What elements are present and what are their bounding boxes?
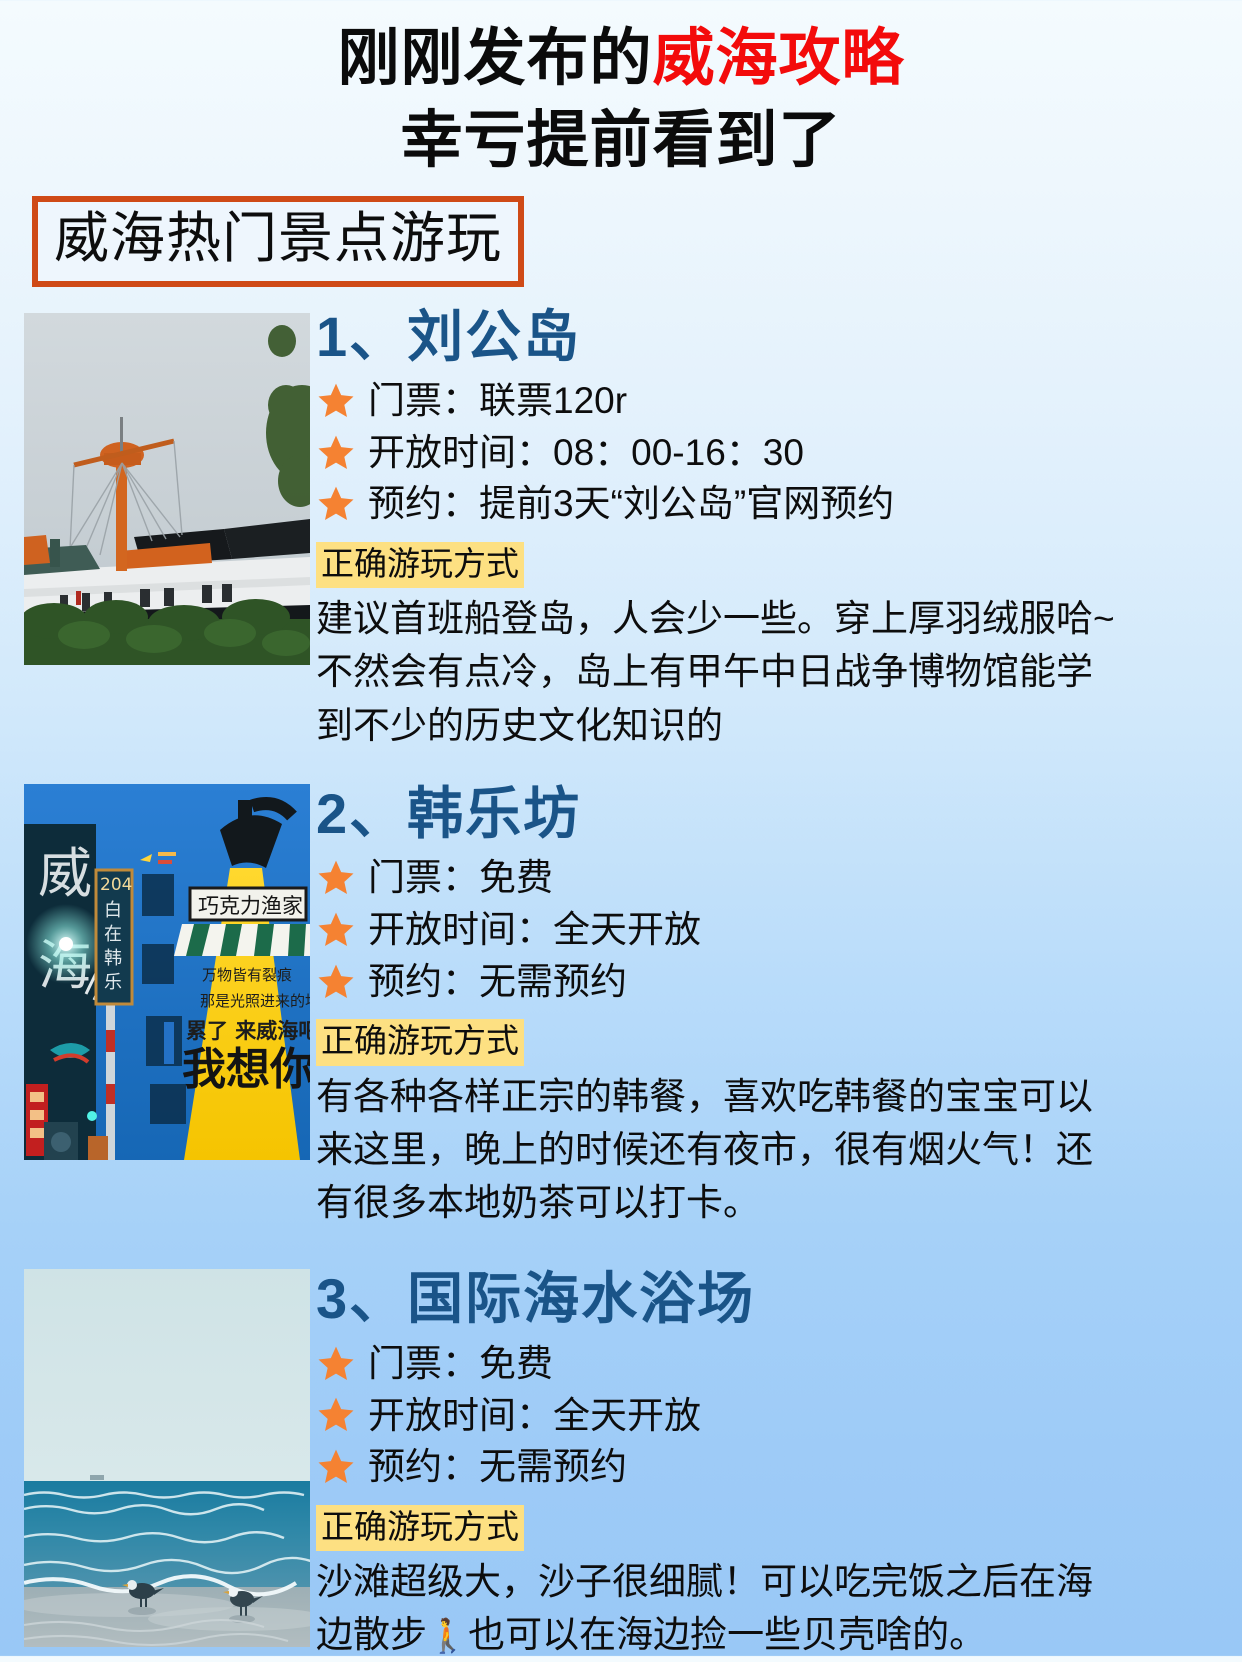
svg-text:在: 在 [104, 924, 122, 945]
spot-photo-beach [24, 1269, 310, 1647]
star-icon [316, 910, 356, 950]
fact-row: 开放时间：08：00-16：30 [316, 431, 1236, 475]
svg-text:万物皆有裂痕: 万物皆有裂痕 [202, 966, 292, 984]
spot-title: 1、刘公岛 [316, 307, 1236, 367]
tip-tag: 正确游玩方式 [316, 542, 524, 588]
star-icon [316, 381, 356, 421]
star-icon [316, 1447, 356, 1487]
spot-item: 威 海 [0, 778, 1242, 1229]
spot-facts: 门票：联票120r 开放时间：08：00-16：30 预约：提前3天“刘公岛”官… [316, 379, 1236, 526]
spot-photo-liugongdao [24, 313, 310, 665]
fact-row: 门票：免费 [316, 856, 1236, 900]
spot-title: 2、韩乐坊 [316, 784, 1236, 844]
star-icon [316, 484, 356, 524]
spot-photo-column: 威 海 [0, 778, 310, 1160]
svg-text:累了 来威海吧: 累了 来威海吧 [186, 1019, 310, 1043]
spot-item: 3、国际海水浴场 门票：免费 开放时间：全天开放 预约：无需预约 正确游玩方式 … [0, 1263, 1242, 1661]
fact-row: 门票：免费 [316, 1342, 1236, 1386]
tip-tag: 正确游玩方式 [316, 1019, 524, 1065]
svg-text:威: 威 [38, 842, 92, 905]
fact-text: 门票：免费 [368, 856, 553, 900]
star-icon [316, 858, 356, 898]
fact-text: 预约：无需预约 [368, 1445, 627, 1489]
svg-text:我想你: 我想你 [182, 1044, 310, 1095]
fact-row: 预约：提前3天“刘公岛”官网预约 [316, 482, 1236, 526]
fact-text: 预约：无需预约 [368, 960, 627, 1004]
fact-row: 门票：联票120r [316, 379, 1236, 423]
page-header: 刚刚发布的威海攻略 幸亏提前看到了 [0, 0, 1242, 182]
tip-body: 沙滩超级大，沙子很细腻！可以吃完饭之后在海边散步🚶也可以在海边捡一些贝壳啥的。 [316, 1555, 1116, 1662]
fact-row: 预约：无需预约 [316, 1445, 1236, 1489]
fact-row: 开放时间：全天开放 [316, 908, 1236, 952]
spot-photo-column [0, 307, 310, 665]
svg-text:韩: 韩 [104, 948, 122, 969]
svg-text:巧克力渔家: 巧克力渔家 [198, 894, 303, 918]
fact-text: 开放时间：全天开放 [368, 908, 701, 952]
star-icon [316, 1344, 356, 1384]
spot-item: 1、刘公岛 门票：联票120r 开放时间：08：00-16：30 预约：提前3天… [0, 307, 1242, 752]
headline-line-2: 幸亏提前看到了 [0, 100, 1242, 182]
spot-photo-hanlefang: 威 海 [24, 784, 310, 1160]
spot-list: 1、刘公岛 门票：联票120r 开放时间：08：00-16：30 预约：提前3天… [0, 307, 1242, 1662]
tip-body: 建议首班船登岛，人会少一些。穿上厚羽绒服哈~不然会有点冷，岛上有甲午中日战争博物… [316, 592, 1116, 752]
walking-person-icon: 🚶 [427, 1617, 468, 1654]
headline-line-1: 刚刚发布的威海攻略 [0, 18, 1242, 100]
section-banner: 威海热门景点游玩 [32, 196, 524, 287]
svg-text:白: 白 [104, 900, 122, 921]
fact-text: 预约：提前3天“刘公岛”官网预约 [368, 482, 894, 526]
spot-text-column: 1、刘公岛 门票：联票120r 开放时间：08：00-16：30 预约：提前3天… [310, 307, 1242, 752]
fact-text: 门票：免费 [368, 1342, 553, 1386]
tip-body-part-2: 也可以在海边捡一些贝壳啥的。 [468, 1614, 986, 1655]
headline-prefix: 刚刚发布的 [337, 24, 652, 93]
fact-row: 预约：无需预约 [316, 960, 1236, 1004]
fact-text: 开放时间：全天开放 [368, 1394, 701, 1438]
spot-text-column: 3、国际海水浴场 门票：免费 开放时间：全天开放 预约：无需预约 正确游玩方式 … [310, 1263, 1242, 1661]
section-banner-wrap: 威海热门景点游玩 [0, 196, 1242, 287]
spot-facts: 门票：免费 开放时间：全天开放 预约：无需预约 [316, 856, 1236, 1003]
star-icon [316, 962, 356, 1002]
star-icon [316, 1395, 356, 1435]
svg-text:那是光照进来的地方: 那是光照进来的地方 [200, 992, 310, 1010]
headline-accent: 威海攻略 [653, 24, 905, 93]
fact-text: 门票：联票120r [368, 379, 627, 423]
fact-row: 开放时间：全天开放 [316, 1394, 1236, 1438]
spot-photo-column [0, 1263, 310, 1647]
spot-facts: 门票：免费 开放时间：全天开放 预约：无需预约 [316, 1342, 1236, 1489]
svg-text:204: 204 [100, 875, 132, 895]
svg-text:乐: 乐 [104, 972, 122, 993]
tip-body: 有各种各样正宗的韩餐，喜欢吃韩餐的宝宝可以来这里，晚上的时候还有夜市，很有烟火气… [316, 1070, 1116, 1230]
spot-text-column: 2、韩乐坊 门票：免费 开放时间：全天开放 预约：无需预约 正确游玩方式 有各种… [310, 778, 1242, 1229]
tip-tag: 正确游玩方式 [316, 1505, 524, 1551]
fact-text: 开放时间：08：00-16：30 [368, 431, 804, 475]
spot-title: 3、国际海水浴场 [316, 1269, 1236, 1329]
star-icon [316, 433, 356, 473]
